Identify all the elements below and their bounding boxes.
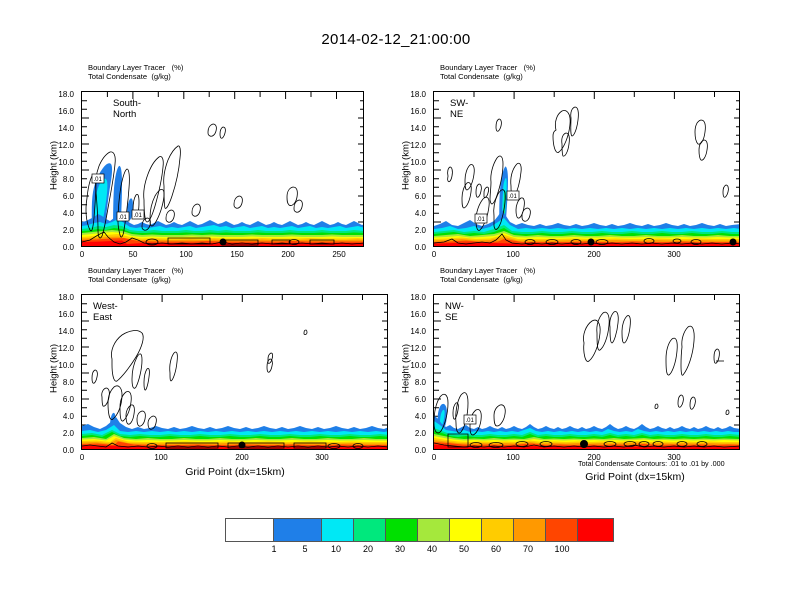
y-tick-5: 10.0 [46,158,74,167]
x-axis-label: Grid Point (dx=15km) [140,466,330,478]
x-tick-0: 0 [74,250,90,259]
y-tick-1: 2.0 [46,429,74,438]
x-tick-0: 0 [74,453,90,462]
y-tick-1: 2.0 [46,226,74,235]
svg-text:.01: .01 [466,418,475,424]
y-tick-7: 14.0 [398,327,426,336]
colorbar-label-100: 100 [546,544,578,554]
colorbar-cell-6[interactable] [450,519,482,541]
x-tick-3: 150 [226,250,248,259]
plot-area-sw-ne[interactable]: .01 .01 [433,91,740,247]
colorbar-label-40: 40 [418,544,446,554]
y-tick-9: 18.0 [398,293,426,302]
colorbar-label-20: 20 [354,544,382,554]
x-tick-1: 50 [124,250,142,259]
y-tick-4: 8.0 [46,175,74,184]
colorbar-cell-10[interactable] [578,519,613,541]
y-tick-8: 16.0 [398,310,426,319]
y-tick-6: 12.0 [46,344,74,353]
page-title: 2014-02-12_21:00:00 [0,31,792,48]
x-tick-5: 250 [328,250,350,259]
y-tick-3: 6.0 [46,395,74,404]
svg-text:.01: .01 [119,215,128,221]
x-tick-2: 100 [175,250,197,259]
y-tick-0: 0.0 [46,446,74,455]
y-tick-9: 18.0 [46,293,74,302]
colorbar-label-10: 10 [322,544,350,554]
y-tick-9: 18.0 [46,90,74,99]
colorbar-label-60: 60 [482,544,510,554]
colorbar-cell-2[interactable] [322,519,354,541]
y-tick-8: 16.0 [46,107,74,116]
x-tick-0: 0 [426,250,442,259]
panel-header-line2: Total Condensate (g/kg) [88,275,171,285]
colorbar-label-50: 50 [450,544,478,554]
y-tick-4: 8.0 [398,378,426,387]
y-tick-5: 10.0 [46,361,74,370]
colorbar-cell-9[interactable] [546,519,578,541]
colorbar-label-1: 1 [261,544,287,554]
x-tick-4: 200 [277,250,299,259]
y-tick-2: 4.0 [46,209,74,218]
y-tick-0: 0.0 [398,243,426,252]
contour-interval-note: Total Condensate Contours: .01 to .01 by… [578,459,725,468]
y-tick-0: 0.0 [46,243,74,252]
x-tick-2: 200 [583,250,605,259]
y-tick-7: 14.0 [46,124,74,133]
panel-tag-sw-ne: SW-NE [450,98,468,120]
svg-text:.01: .01 [94,177,103,183]
y-tick-8: 16.0 [46,310,74,319]
y-tick-3: 6.0 [398,192,426,201]
y-tick-6: 12.0 [398,141,426,150]
y-tick-3: 6.0 [46,192,74,201]
y-tick-1: 2.0 [398,429,426,438]
svg-text:.01: .01 [509,194,518,200]
colorbar-cell-5[interactable] [418,519,450,541]
x-tick-0: 0 [426,453,442,462]
x-tick-1: 100 [502,250,524,259]
y-tick-5: 10.0 [398,361,426,370]
y-tick-4: 8.0 [46,378,74,387]
y-tick-4: 8.0 [398,175,426,184]
y-tick-6: 12.0 [398,344,426,353]
y-tick-1: 2.0 [398,226,426,235]
colorbar-cell-0[interactable] [226,519,274,541]
y-tick-3: 6.0 [398,395,426,404]
panel-header-line2: Total Condensate (g/kg) [88,72,171,82]
colorbar-cell-3[interactable] [354,519,386,541]
y-tick-2: 4.0 [46,412,74,421]
plot-area-west-east[interactable] [81,294,388,450]
x-tick-2: 200 [231,453,253,462]
panel-tag-nw-se: NW-SE [445,301,464,323]
y-tick-6: 12.0 [46,141,74,150]
y-tick-7: 14.0 [398,124,426,133]
y-tick-2: 4.0 [398,412,426,421]
y-tick-2: 4.0 [398,209,426,218]
y-tick-0: 0.0 [398,446,426,455]
y-tick-7: 14.0 [46,327,74,336]
colorbar[interactable] [225,518,614,542]
colorbar-label-70: 70 [514,544,542,554]
x-tick-1: 100 [502,453,524,462]
y-tick-8: 16.0 [398,107,426,116]
svg-text:.01: .01 [477,217,486,223]
x-axis-label: Grid Point (dx=15km) [540,471,730,483]
panel-tag-south-north: South-North [113,98,141,120]
colorbar-label-30: 30 [386,544,414,554]
y-tick-5: 10.0 [398,158,426,167]
panel-header-line2: Total Condensate (g/kg) [440,275,523,285]
colorbar-cell-4[interactable] [386,519,418,541]
x-tick-3: 300 [311,453,333,462]
panel-tag-west-east: West-East [93,301,118,323]
panel-header-line2: Total Condensate (g/kg) [440,72,523,82]
x-tick-1: 100 [150,453,172,462]
plot-area-nw-se[interactable]: .01 [433,294,740,450]
colorbar-cell-8[interactable] [514,519,546,541]
svg-text:.01: .01 [134,213,143,219]
y-tick-9: 18.0 [398,90,426,99]
colorbar-cell-7[interactable] [482,519,514,541]
colorbar-cell-1[interactable] [274,519,322,541]
colorbar-label-5: 5 [292,544,318,554]
x-tick-3: 300 [663,250,685,259]
